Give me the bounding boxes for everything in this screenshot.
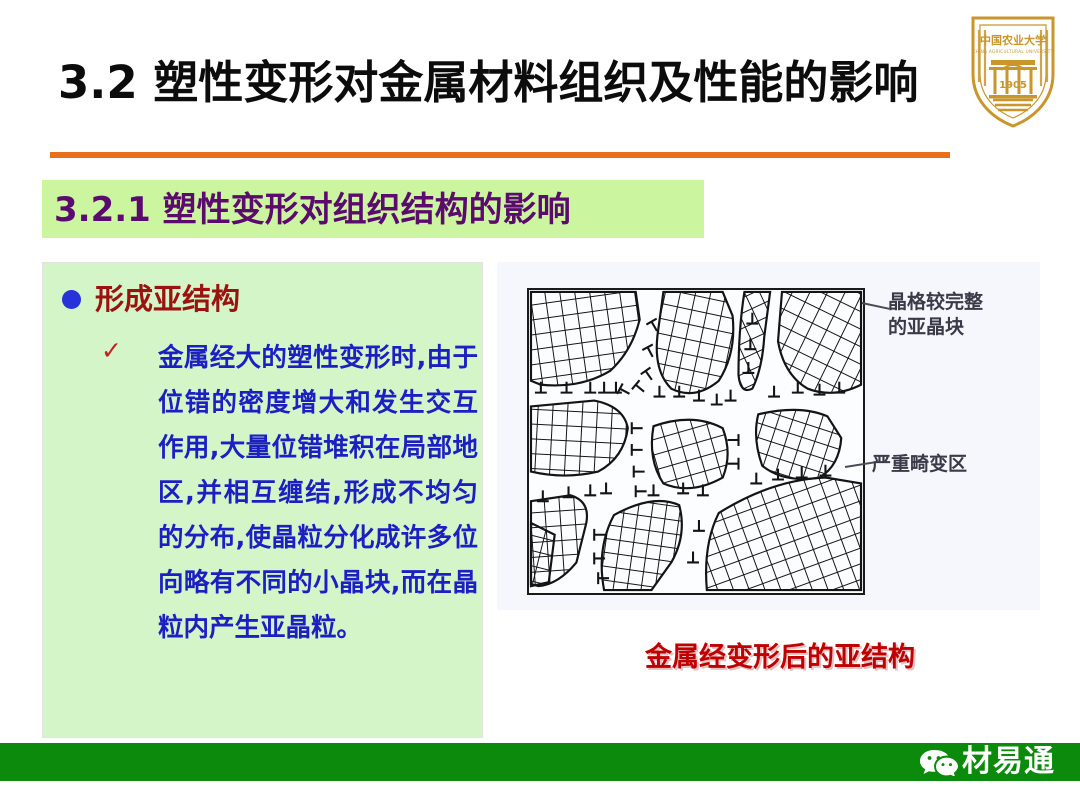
annotation-subgrain-line2: 的亚晶块 — [888, 315, 983, 340]
footer-brand: 材易通 — [962, 744, 1055, 780]
annotation-subgrain-line1: 晶格较完整 — [888, 290, 983, 315]
substructure-diagram — [527, 288, 865, 595]
bullet-label: 形成亚结构 — [95, 278, 240, 320]
svg-text:中国农业大学: 中国农业大学 — [980, 33, 1046, 47]
svg-text:1905: 1905 — [999, 80, 1027, 91]
annotation-distorted-zone: 严重畸变区 — [872, 452, 967, 477]
header-divider — [50, 152, 950, 158]
body-paragraph: 金属经大的塑性变形时,由于位错的密度增大和发生交互作用,大量位错堆积在局部地区,… — [158, 336, 478, 651]
annotation-subgrain: 晶格较完整 的亚晶块 — [888, 290, 983, 340]
figure-caption: 金属经变形后的亚结构 — [600, 640, 960, 676]
university-logo-icon: 中国农业大学 CHINA AGRICULTURAL UNIVERSITY 190… — [965, 12, 1061, 130]
bullet-item: 形成亚结构 — [62, 278, 462, 322]
footer-bar — [0, 743, 1080, 781]
bullet-dot-icon — [62, 290, 81, 309]
page-title: 3.2 塑性变形对金属材料组织及性能的影响 — [58, 48, 958, 118]
wechat-icon — [919, 748, 959, 776]
slide-root: 3.2 塑性变形对金属材料组织及性能的影响 中国农业大学 CHINA AGRIC… — [0, 0, 1080, 786]
section-subtitle: 3.2.1 塑性变形对组织结构的影响 — [54, 185, 704, 235]
check-icon: ✓ — [101, 338, 122, 363]
